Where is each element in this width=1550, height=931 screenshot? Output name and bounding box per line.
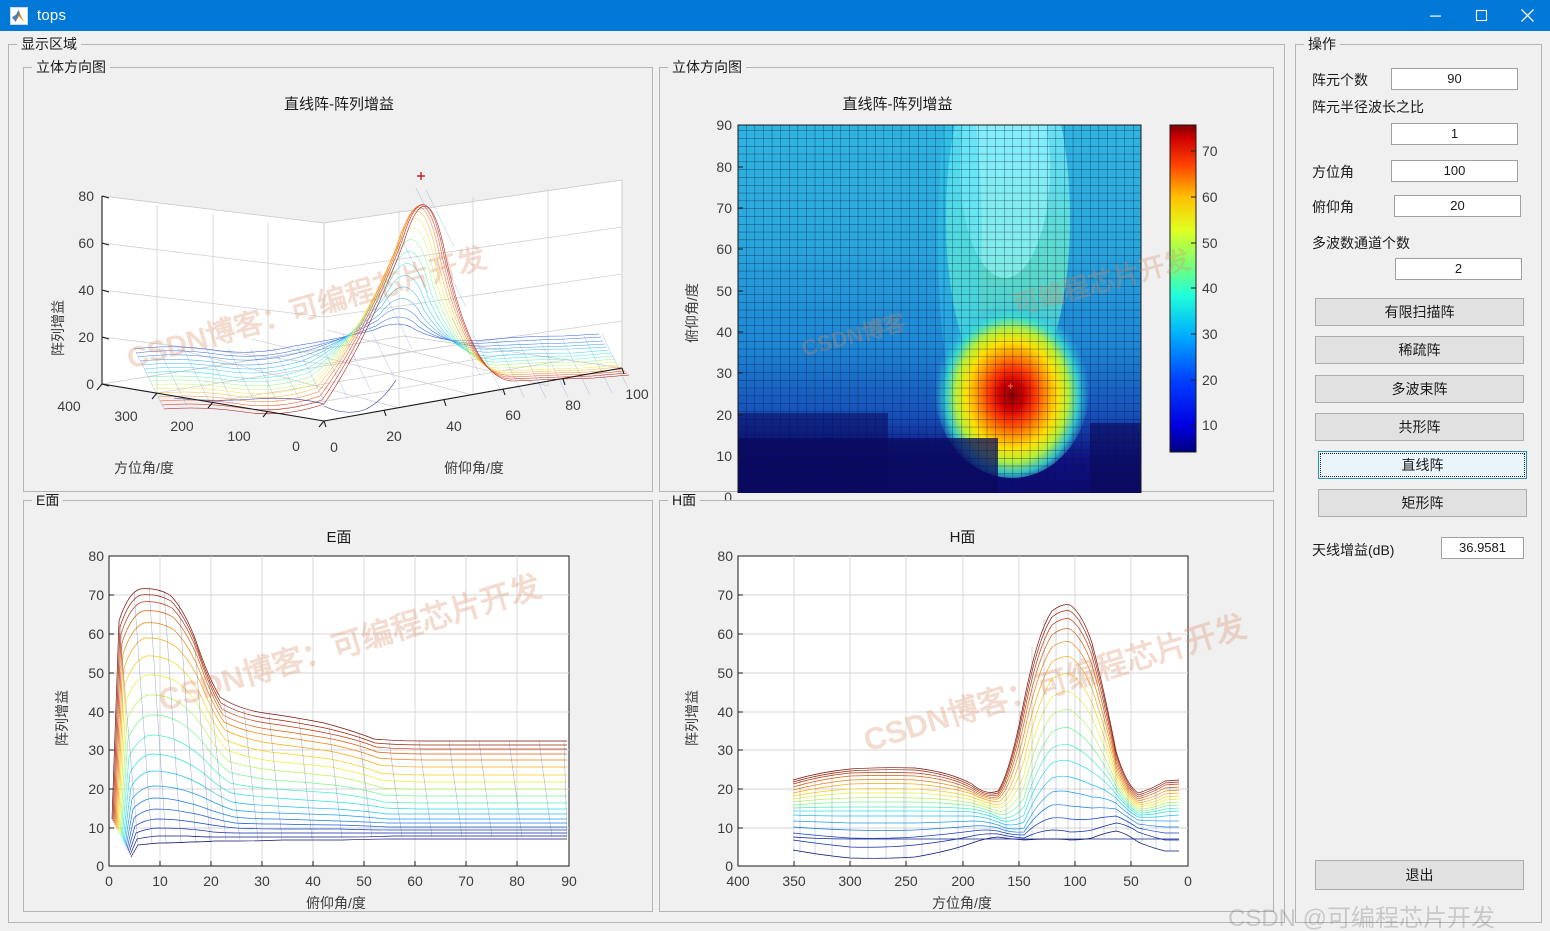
surface-xtick-2: 200 [170, 418, 193, 434]
eplane-ytick-5: 50 [64, 665, 104, 681]
exit-button[interactable]: 退出 [1315, 860, 1524, 890]
multibeam-channel-count-label: 多波数通道个数 [1312, 233, 1410, 253]
surface-ztick-0: 80 [54, 188, 94, 204]
e-plane-plot[interactable]: E面 [24, 501, 654, 913]
colorbar-tick-70: 70 [1202, 143, 1218, 159]
rectangular-array-button[interactable]: 矩形阵 [1318, 489, 1527, 517]
eplane-xtick-8: 80 [509, 873, 525, 889]
h-plane-panel: H面 H面 [659, 500, 1274, 912]
e-plane-title: E面 [24, 526, 654, 547]
hplane-ytick-0: 0 [693, 858, 733, 874]
application-window: tops 显示区域 立体方向图 直线阵-阵列增益 [0, 0, 1550, 931]
display-area-panel: 显示区域 立体方向图 直线阵-阵列增益 [8, 44, 1285, 923]
eplane-ylabel: 阵列增益 [52, 690, 72, 746]
surface-ztick-2: 40 [54, 282, 94, 298]
contour-ytick-9: 90 [692, 117, 732, 133]
eplane-ytick-7: 70 [64, 587, 104, 603]
contour-ytick-3: 30 [692, 365, 732, 381]
surface-ytick-4: 80 [565, 397, 581, 413]
hplane-xtick-0: 400 [726, 873, 749, 889]
surface-xtick-0: 400 [57, 398, 80, 414]
window-title: tops [37, 7, 66, 24]
colorbar-tick-30: 30 [1202, 326, 1218, 342]
eplane-ytick-2: 20 [64, 781, 104, 797]
eplane-xlabel: 俯仰角/度 [306, 893, 366, 913]
eplane-xtick-3: 30 [254, 873, 270, 889]
hplane-ytick-7: 70 [693, 587, 733, 603]
contour-ytick-8: 80 [692, 159, 732, 175]
eplane-xtick-5: 50 [356, 873, 372, 889]
surface-3d-title: 直线阵-阵列增益 [24, 93, 654, 114]
limited-scan-array-button[interactable]: 有限扫描阵 [1315, 298, 1524, 326]
surface-xtick-4: 0 [292, 438, 300, 454]
surface-ytick-0: 0 [330, 439, 338, 455]
matlab-app-icon [10, 7, 28, 25]
hplane-ytick-8: 80 [693, 548, 733, 564]
surface-ytick-2: 40 [446, 418, 462, 434]
eplane-xtick-6: 60 [407, 873, 423, 889]
sparse-array-button[interactable]: 稀疏阵 [1315, 336, 1524, 364]
hplane-ytick-6: 60 [693, 626, 733, 642]
minimize-button[interactable] [1412, 0, 1458, 31]
surface-ylabel: 俯仰角/度 [444, 458, 504, 478]
azimuth-angle-label: 方位角 [1312, 162, 1354, 182]
radius-wavelength-ratio-label: 阵元半径波长之比 [1312, 97, 1424, 117]
colorbar-tick-20: 20 [1202, 372, 1218, 388]
close-button[interactable] [1504, 0, 1550, 31]
radius-wavelength-ratio-input[interactable]: 1 [1391, 123, 1518, 145]
eplane-ytick-8: 80 [64, 548, 104, 564]
eplane-xtick-9: 90 [561, 873, 577, 889]
multibeam-array-button[interactable]: 多波束阵 [1315, 375, 1524, 403]
hplane-xtick-8: 0 [1184, 873, 1192, 889]
eplane-xtick-7: 70 [458, 873, 474, 889]
surface-zlabel: 阵列增益 [48, 300, 68, 356]
hplane-xtick-2: 300 [838, 873, 861, 889]
hplane-xtick-1: 350 [782, 873, 805, 889]
eplane-ytick-6: 60 [64, 626, 104, 642]
surface-ytick-3: 60 [505, 407, 521, 423]
title-bar: tops [0, 0, 1550, 31]
contour-ytick-1: 10 [692, 448, 732, 464]
hplane-xtick-4: 200 [951, 873, 974, 889]
stereo-pattern-right-panel: 立体方向图 直线阵-阵列增益 [659, 67, 1274, 492]
hplane-xtick-7: 50 [1123, 873, 1139, 889]
hplane-ytick-1: 10 [693, 820, 733, 836]
surface-xtick-1: 300 [114, 408, 137, 424]
contour-ylabel: 俯仰角/度 [682, 283, 702, 343]
surface-ztick-1: 60 [54, 235, 94, 251]
eplane-xtick-0: 0 [105, 873, 113, 889]
eplane-xtick-2: 20 [203, 873, 219, 889]
eplane-ytick-0: 0 [64, 858, 104, 874]
multibeam-channel-count-input[interactable]: 2 [1395, 258, 1522, 280]
hplane-ylabel: 阵列增益 [682, 690, 702, 746]
surface-ytick-5: 100 [625, 386, 648, 402]
maximize-button[interactable] [1458, 0, 1504, 31]
surface-3d-plot[interactable]: 直线阵-阵列增益 [24, 68, 654, 493]
display-area-panel-label: 显示区域 [17, 36, 81, 52]
surface-ztick-4: 0 [54, 376, 94, 392]
colorbar-tick-60: 60 [1202, 189, 1218, 205]
element-count-input[interactable]: 90 [1391, 68, 1518, 90]
eplane-xtick-4: 40 [305, 873, 321, 889]
h-plane-title: H面 [655, 526, 1270, 547]
h-plane-canvas [660, 501, 1275, 913]
colorbar-tick-50: 50 [1202, 235, 1218, 251]
colorbar-tick-10: 10 [1202, 417, 1218, 433]
h-plane-plot[interactable]: H面 [660, 501, 1275, 913]
eplane-ytick-1: 10 [64, 820, 104, 836]
colorbar-tick-40: 40 [1202, 280, 1218, 296]
hplane-xlabel: 方位角/度 [932, 893, 992, 913]
hplane-xtick-5: 150 [1007, 873, 1030, 889]
e-plane-panel: E面 E面 [23, 500, 653, 912]
e-plane-canvas [24, 501, 654, 913]
element-count-label: 阵元个数 [1312, 70, 1368, 90]
antenna-gain-value: 36.9581 [1441, 537, 1524, 559]
eplane-xtick-1: 10 [152, 873, 168, 889]
surface-ytick-1: 20 [386, 428, 402, 444]
linear-array-button[interactable]: 直线阵 [1318, 451, 1527, 479]
antenna-gain-label: 天线增益(dB) [1312, 540, 1394, 560]
elevation-angle-label: 俯仰角 [1312, 197, 1354, 217]
stereo-pattern-left-panel: 立体方向图 直线阵-阵列增益 [23, 67, 653, 492]
contour-ytick-6: 60 [692, 241, 732, 257]
surface-3d-canvas [24, 68, 654, 493]
azimuth-angle-input[interactable]: 100 [1391, 160, 1518, 182]
contour-2d-canvas [660, 68, 1275, 493]
contour-ytick-2: 20 [692, 407, 732, 423]
contour-2d-title: 直线阵-阵列增益 [590, 93, 1205, 114]
contour-ytick-7: 70 [692, 200, 732, 216]
surface-xtick-3: 100 [227, 428, 250, 444]
hplane-xtick-6: 100 [1063, 873, 1086, 889]
operation-panel-label: 操作 [1304, 36, 1340, 52]
hplane-ytick-5: 50 [693, 665, 733, 681]
hplane-xtick-3: 250 [894, 873, 917, 889]
conformal-array-button[interactable]: 共形阵 [1315, 413, 1524, 441]
operation-panel: 操作 阵元个数 90 阵元半径波长之比 1 方位角 100 俯仰角 20 多波数… [1295, 44, 1542, 923]
surface-xlabel: 方位角/度 [114, 458, 174, 478]
elevation-angle-input[interactable]: 20 [1394, 195, 1521, 217]
contour-2d-plot[interactable]: 直线阵-阵列增益 [660, 68, 1275, 493]
hplane-ytick-2: 20 [693, 781, 733, 797]
